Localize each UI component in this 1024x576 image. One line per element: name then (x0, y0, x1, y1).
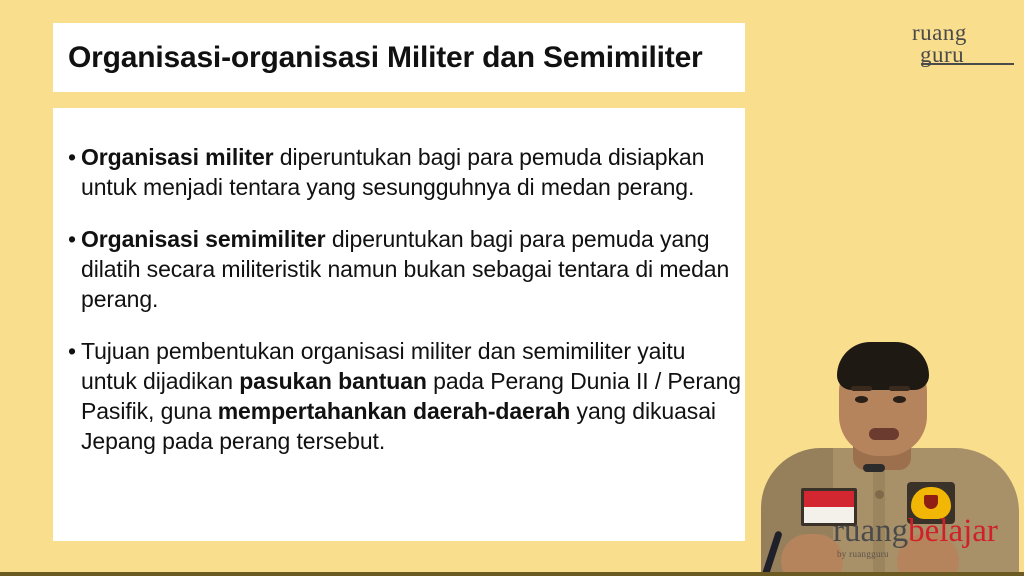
presentation-slide: ruang guru Organisasi-organisasi Militer… (0, 0, 1024, 576)
lapel-microphone (863, 464, 885, 472)
title-card: Organisasi-organisasi Militer dan Semimi… (53, 23, 745, 92)
bullet-marker-icon: • (63, 336, 81, 366)
content-card: •Organisasi militer diperuntukan bagi pa… (53, 108, 745, 541)
watermark-ruang: ruang (833, 513, 908, 549)
presenter-mouth (869, 428, 899, 440)
bullet-text: Tujuan pembentukan organisasi militer da… (81, 336, 743, 456)
presenter-eye-right (893, 396, 906, 403)
presenter-eyebrow-left (851, 386, 872, 391)
presenter-eyebrow-right (889, 386, 910, 391)
flag-red-band (804, 491, 854, 507)
bullet-item: •Organisasi semimiliter diperuntukan bag… (63, 224, 743, 314)
logo-line-guru: guru (920, 44, 1008, 66)
logo-line-ruang: ruang (912, 22, 1008, 44)
bullet-emphasis: Organisasi militer (81, 144, 274, 170)
bullet-marker-icon: • (63, 142, 81, 172)
ruangbelajar-watermark: ruangbelajar by ruangguru (833, 515, 998, 559)
garuda-shield-shape (924, 495, 938, 509)
watermark-belajar: belajar (908, 513, 998, 549)
bullet-list: •Organisasi militer diperuntukan bagi pa… (63, 142, 743, 478)
bullet-item: •Tujuan pembentukan organisasi militer d… (63, 336, 743, 456)
bullet-emphasis: pasukan bantuan (239, 368, 427, 394)
presenter-shirt-button (875, 490, 884, 499)
slide-title: Organisasi-organisasi Militer dan Semimi… (68, 41, 703, 75)
bullet-text: Organisasi militer diperuntukan bagi par… (81, 142, 743, 202)
bullet-text: Organisasi semimiliter diperuntukan bagi… (81, 224, 743, 314)
presenter-hair (837, 342, 929, 390)
bottom-accent-rule (0, 572, 1024, 576)
bullet-item: •Organisasi militer diperuntukan bagi pa… (63, 142, 743, 202)
ruangguru-logo: ruang guru (912, 22, 1008, 66)
presenter-eye-left (855, 396, 868, 403)
bullet-marker-icon: • (63, 224, 81, 254)
bullet-emphasis: Organisasi semimiliter (81, 226, 326, 252)
bullet-emphasis: mempertahankan daerah-daerah (218, 398, 571, 424)
watermark-byline: by ruangguru (837, 550, 998, 559)
